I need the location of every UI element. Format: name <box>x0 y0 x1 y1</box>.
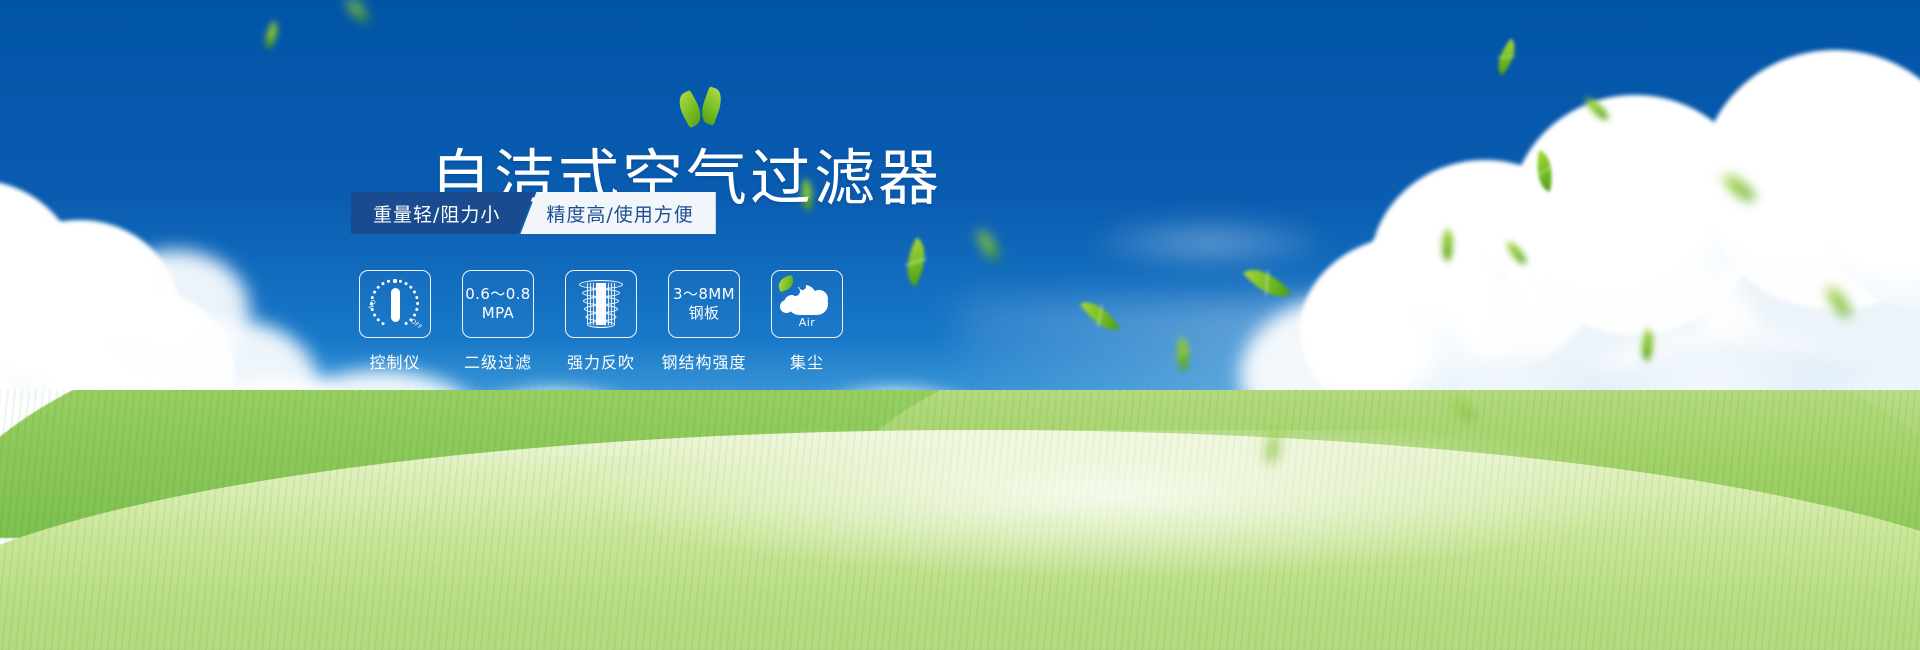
feature-controller[interactable]: NO OFF 控制仪 <box>358 270 432 373</box>
pressure-unit: MPA <box>465 304 531 323</box>
air-cloud-icon: Air <box>780 281 834 327</box>
feature-label: 集尘 <box>790 349 824 373</box>
feature-box: NO OFF <box>359 270 431 338</box>
tab-precision-convenience[interactable]: 精度高/使用方便 <box>520 192 715 234</box>
feature-box: 3～8MM 钢板 <box>668 270 740 338</box>
gauge-on-label: NO <box>368 299 378 311</box>
banner-content: 自洁式空气过滤器 重量轻/阻力小 精度高/使用方便 <box>0 0 1920 650</box>
feature-tabs: 重量轻/阻力小 精度高/使用方便 <box>351 192 716 234</box>
pressure-text-icon: 0.6～0.8 MPA <box>465 285 531 323</box>
title-sprout-leaf-right <box>697 86 725 126</box>
steel-plate-text-icon: 3～8MM 钢板 <box>673 285 735 323</box>
hero-banner: 自洁式空气过滤器 重量轻/阻力小 精度高/使用方便 <box>0 0 1920 650</box>
filter-coil-icon <box>578 279 624 329</box>
tab-weight-resistance[interactable]: 重量轻/阻力小 <box>351 192 534 234</box>
feature-box: Air <box>771 270 843 338</box>
gauge-icon: NO OFF <box>369 279 421 329</box>
feature-label: 控制仪 <box>369 349 420 373</box>
pressure-value: 0.6～0.8 <box>465 285 531 303</box>
air-label: Air <box>780 316 834 329</box>
feature-label: 二级过滤 <box>464 349 532 373</box>
feature-steel-strength[interactable]: 3～8MM 钢板 钢结构强度 <box>667 270 741 373</box>
feature-two-stage-filter[interactable]: 0.6～0.8 MPA 二级过滤 <box>461 270 535 373</box>
gauge-needle <box>391 288 400 322</box>
feature-dust-collection[interactable]: Air 集尘 <box>770 270 844 373</box>
feature-icon-row: NO OFF 控制仪 0.6～0.8 MPA 二级过滤 <box>358 270 844 373</box>
feature-label: 强力反吹 <box>567 349 635 373</box>
feature-box: 0.6～0.8 MPA <box>462 270 534 338</box>
gauge-off-label: OFF <box>410 318 424 331</box>
feature-box <box>565 270 637 338</box>
steel-thickness: 3～8MM <box>673 285 735 303</box>
steel-material: 钢板 <box>673 304 735 323</box>
feature-label: 钢结构强度 <box>662 349 747 373</box>
feature-strong-blowback[interactable]: 强力反吹 <box>564 270 638 373</box>
